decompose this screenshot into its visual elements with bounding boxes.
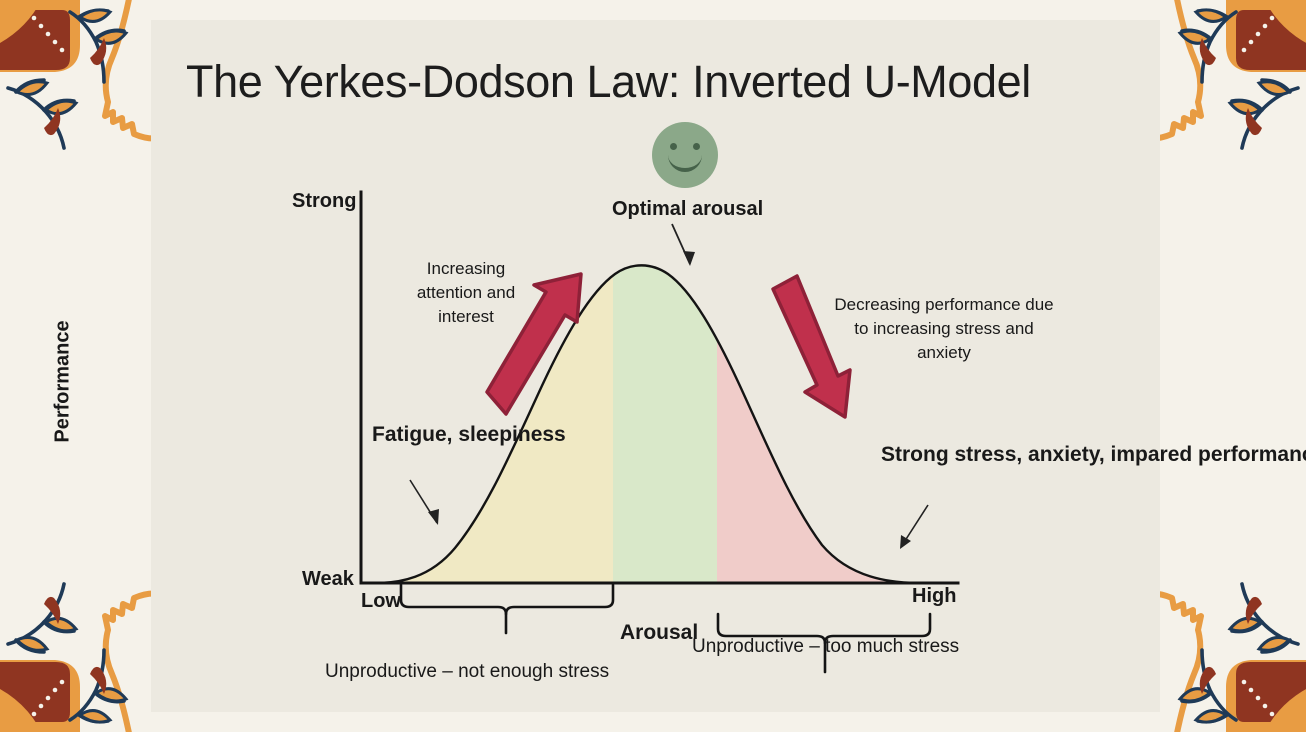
x-axis-title: Arousal xyxy=(620,621,698,645)
smiley-right-eye xyxy=(693,143,700,150)
y-axis-bottom-label: Weak xyxy=(302,568,354,591)
brace-underarousal xyxy=(401,585,613,633)
x-axis-left-label: Low xyxy=(361,590,401,613)
brace-label-overarousal: Unproductive – too much stress xyxy=(692,636,959,658)
smiley-mouth xyxy=(668,152,702,172)
strong-stress-label: Strong stress, anxiety, impared performa… xyxy=(881,441,1121,469)
brace-label-underarousal: Unproductive – not enough stress xyxy=(325,661,609,683)
smiley-face-icon xyxy=(652,122,718,188)
fatigue-label: Fatigue, sleepiness xyxy=(372,421,502,449)
decreasing-performance-label: Decreasing performance due to increasing… xyxy=(833,293,1055,365)
optimal-arousal-pointer xyxy=(672,224,695,266)
band-optimal xyxy=(613,255,717,584)
optimal-arousal-label: Optimal arousal xyxy=(612,198,763,221)
x-axis-right-label: High xyxy=(912,585,956,608)
slide-stage: The Yerkes-Dodson Law: Inverted U-Model xyxy=(0,0,1306,732)
smiley-left-eye xyxy=(670,143,677,150)
fatigue-pointer xyxy=(410,480,439,525)
y-axis-top-label: Strong xyxy=(292,190,356,213)
stress-pointer xyxy=(900,505,928,549)
y-axis-title: Performance xyxy=(52,302,75,462)
increasing-attention-label: Increasing attention and interest xyxy=(405,257,527,329)
